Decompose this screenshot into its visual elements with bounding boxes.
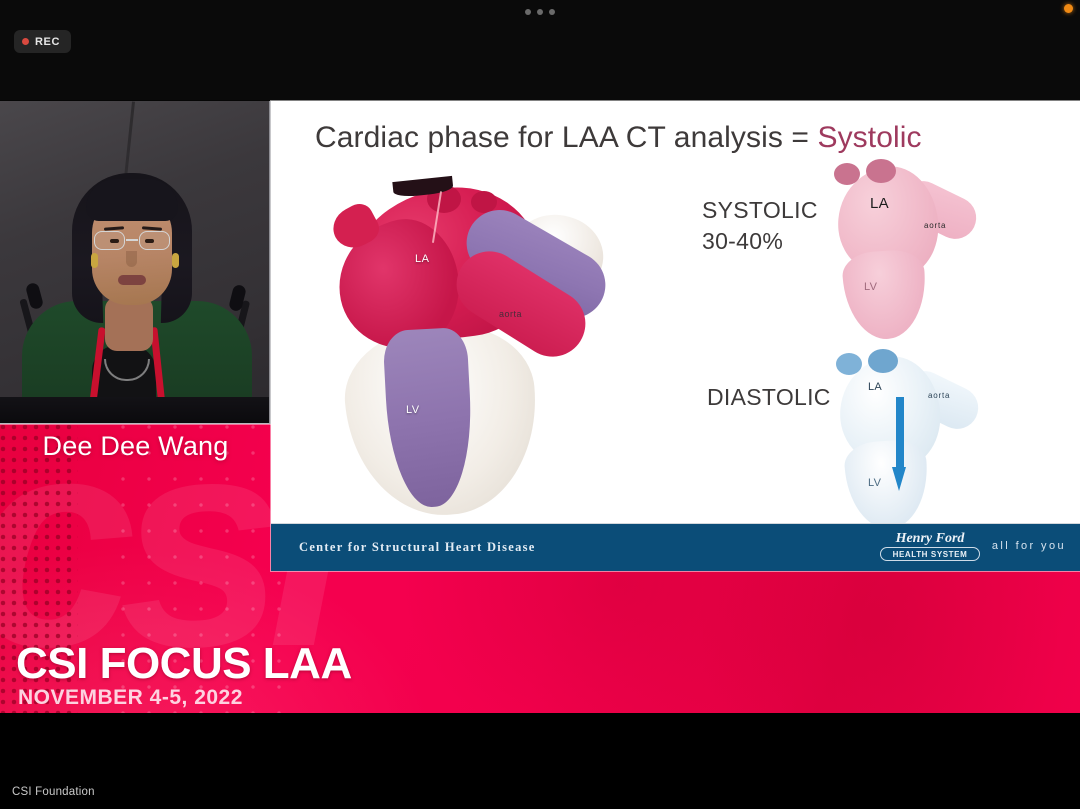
diastolic-pulmonary-vein-2 xyxy=(868,349,898,373)
lens-right xyxy=(139,231,170,250)
eye-right xyxy=(145,239,154,243)
logo-tagline: all for you xyxy=(992,540,1066,552)
diastolic-heart-model: LA aorta LV xyxy=(828,349,978,524)
glasses-bridge xyxy=(126,239,138,241)
slide-title-prefix: Cardiac phase for LAA CT analysis = xyxy=(315,121,817,154)
orange-status-dot-icon xyxy=(1064,4,1073,13)
earring-right xyxy=(172,253,179,268)
henry-ford-logo: Henry Ford HEALTH SYSTEM xyxy=(880,532,980,564)
dot-3 xyxy=(549,9,555,15)
window-top-bar: REC xyxy=(0,0,1080,100)
systolic-pulmonary-vein-2 xyxy=(866,159,896,183)
channel-name: CSI Foundation xyxy=(12,786,95,798)
speaker-video-tile[interactable] xyxy=(0,101,271,424)
diastolic-label-lv: LV xyxy=(868,477,881,489)
phase-systolic-name: SYSTOLIC xyxy=(702,195,818,226)
slide-footer-band: Center for Structural Heart Disease Henr… xyxy=(271,523,1080,571)
nose xyxy=(126,251,137,267)
diastolic-label-aorta: aorta xyxy=(928,391,950,400)
diastolic-label-la: LA xyxy=(868,381,882,393)
main-label-aorta: aorta xyxy=(499,309,522,319)
systolic-label-la: LA xyxy=(870,195,889,212)
dot-1 xyxy=(525,9,531,15)
record-dot-icon xyxy=(22,38,29,45)
eyeglasses-icon xyxy=(93,231,171,251)
systolic-label-aorta: aorta xyxy=(924,221,946,230)
recording-label: REC xyxy=(35,36,60,48)
eye-left xyxy=(110,239,119,243)
phase-systolic-range: 30-40% xyxy=(702,226,818,257)
speaker-name: Dee Dee Wang xyxy=(43,431,229,462)
phase-diastolic-name: DIASTOLIC xyxy=(707,382,831,413)
main-label-la: LA xyxy=(415,253,429,265)
speaker-bangs xyxy=(86,179,178,221)
arrow-head xyxy=(892,467,906,491)
diastolic-left-ventricle xyxy=(843,438,931,532)
main-heart-model: LA aorta LV xyxy=(331,179,611,514)
presentation-slide[interactable]: Cardiac phase for LAA CT analysis = Syst… xyxy=(271,101,1080,571)
phase-label-systolic: SYSTOLIC 30-40% xyxy=(702,195,818,257)
recording-badge[interactable]: REC xyxy=(14,30,71,53)
mouth xyxy=(118,275,146,285)
dot-2 xyxy=(537,9,543,15)
podium xyxy=(0,397,271,424)
earring-left xyxy=(91,253,98,268)
main-label-lv: LV xyxy=(406,404,420,416)
event-dates: NOVEMBER 4-5, 2022 xyxy=(18,686,243,710)
bottom-status-bar: CSI Foundation xyxy=(0,713,1080,809)
logo-subtitle: HEALTH SYSTEM xyxy=(880,547,980,561)
systolic-left-ventricle xyxy=(841,248,929,342)
systolic-heart-model: LA aorta LV xyxy=(826,159,976,334)
blue-down-arrow-icon xyxy=(892,397,906,493)
arrow-shaft xyxy=(896,397,904,469)
systolic-pulmonary-vein-1 xyxy=(834,163,860,185)
diastolic-pulmonary-vein-1 xyxy=(836,353,862,375)
speaker-name-band: Dee Dee Wang xyxy=(0,424,271,468)
three-dots-icon[interactable] xyxy=(525,9,555,15)
app-window: REC csi CSI FOCUS LAA NOVEMBER 4-5, 2022… xyxy=(0,0,1080,809)
slide-title-accent: Systolic xyxy=(817,121,921,154)
systolic-label-lv: LV xyxy=(864,281,877,293)
slide-title: Cardiac phase for LAA CT analysis = Syst… xyxy=(315,121,922,155)
event-title: CSI FOCUS LAA xyxy=(16,639,352,689)
phase-label-diastolic: DIASTOLIC xyxy=(707,382,831,413)
speaker-neck xyxy=(105,297,153,351)
logo-script-text: Henry Ford xyxy=(888,531,972,547)
center-name: Center for Structural Heart Disease xyxy=(299,540,536,555)
